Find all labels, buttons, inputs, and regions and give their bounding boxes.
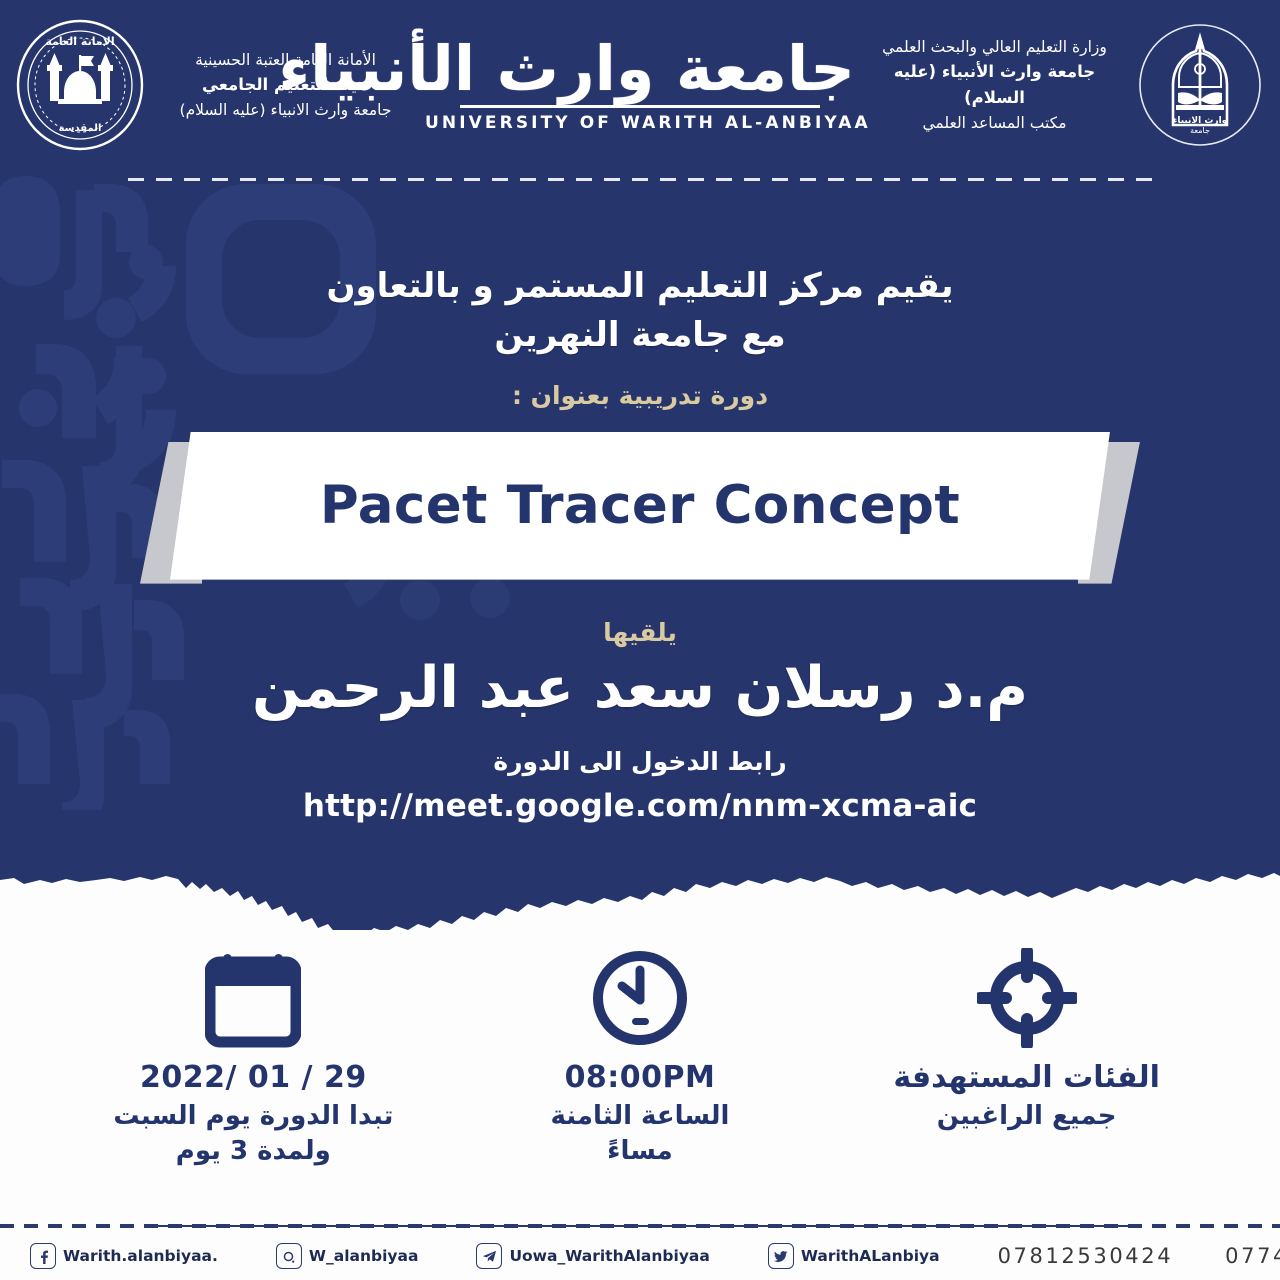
facebook-icon[interactable] (30, 1243, 56, 1269)
twitter-handle[interactable]: WarithALanbiya (801, 1247, 940, 1265)
clock-icon (465, 942, 815, 1054)
header-divider (128, 178, 1152, 181)
header-right-text: وزارة التعليم العالي والبحث العلمي جامعة… (870, 35, 1120, 134)
poster-header: الامانة العامة المقدسة الأمانة العامة ال… (0, 0, 1280, 170)
date-value: 2022/ 01 / 29 (78, 1060, 428, 1095)
organizer-line2: مع جامعة النهرين (0, 311, 1280, 360)
course-title-banner: Pacet Tracer Concept (140, 432, 1140, 584)
course-title: Pacet Tracer Concept (320, 475, 960, 536)
svg-text:الامانة العامة: الامانة العامة (45, 35, 114, 48)
date-sub-line2: ولمدة 3 يوم (78, 1134, 428, 1169)
poster-main-content: يقيم مركز التعليم المستمر و بالتعاون مع … (0, 200, 1280, 824)
wordmark-latin: UNIVERSITY OF WARITH AL-ANBIYAA (425, 113, 855, 133)
poster-root: الامانة العامة المقدسة الأمانة العامة ال… (0, 0, 1280, 1280)
organizer-line1: يقيم مركز التعليم المستمر و بالتعاون (326, 266, 953, 306)
instagram-icon[interactable] (276, 1243, 302, 1269)
course-kicker: دورة تدريبية بعنوان : (0, 381, 1280, 410)
poster-footer: Warith.alanbiyaa. W_alanbiyaa Uowa_Warit… (0, 1224, 1280, 1280)
footer-divider (0, 1224, 1280, 1228)
phone-2[interactable]: 07740811806 (1225, 1244, 1280, 1268)
social-twitter[interactable]: WarithALanbiya (768, 1243, 940, 1269)
blue-background-panel: الامانة العامة المقدسة الأمانة العامة ال… (0, 0, 1280, 930)
banner-surface: Pacet Tracer Concept (170, 432, 1110, 580)
social-telegram[interactable]: Uowa_WarithAlanbiyaa (476, 1243, 709, 1269)
wordmark-arabic: جامعة وارث الأنبياء (425, 38, 855, 100)
header-right-line1: وزارة التعليم العالي والبحث العلمي (870, 35, 1120, 59)
time-sub-line1: الساعة الثامنة (465, 1099, 815, 1134)
info-block-date: 2022/ 01 / 29 تبدا الدورة يوم السبت ولمد… (78, 942, 428, 1169)
contact-phones: 07812530424 07740811806 (998, 1244, 1280, 1268)
university-crest-icon: وارث الانبياء جامعة (1134, 19, 1266, 151)
time-sub-line2: مساءً (465, 1134, 815, 1169)
footer-divider-solid (150, 1225, 1130, 1227)
time-value: 08:00PM (465, 1060, 815, 1095)
footer-items: Warith.alanbiyaa. W_alanbiyaa Uowa_Warit… (0, 1232, 1280, 1280)
social-facebook[interactable]: Warith.alanbiyaa. (30, 1243, 218, 1269)
header-right-line3: مكتب المساعد العلمي (870, 111, 1120, 135)
info-block-audience: الفئات المستهدفة جميع الراغبين (852, 942, 1202, 1134)
meeting-link[interactable]: http://meet.google.com/nnm-xcma-aic (0, 788, 1280, 824)
svg-text:وارث الانبياء: وارث الانبياء (1173, 116, 1228, 126)
twitter-icon[interactable] (768, 1243, 794, 1269)
audience-sub: جميع الراغبين (852, 1099, 1202, 1134)
header-right-line2: جامعة وارث الأنبياء (عليه السلام) (870, 59, 1120, 110)
organizer-text: يقيم مركز التعليم المستمر و بالتعاون مع … (0, 262, 1280, 361)
audience-label: الفئات المستهدفة (852, 1060, 1202, 1095)
info-row: 2022/ 01 / 29 تبدا الدورة يوم السبت ولمد… (0, 942, 1280, 1169)
target-crosshair-icon (852, 942, 1202, 1054)
university-wordmark: جامعة وارث الأنبياء UNIVERSITY OF WARITH… (425, 38, 855, 133)
audience-sub-line1: جميع الراغبين (852, 1099, 1202, 1134)
link-label: رابط الدخول الى الدورة (0, 747, 1280, 776)
calendar-icon (78, 942, 428, 1054)
date-sub-line1: تبدا الدورة يوم السبت (78, 1099, 428, 1134)
time-sub: الساعة الثامنة مساءً (465, 1099, 815, 1169)
svg-text:جامعة: جامعة (1190, 126, 1210, 135)
date-sub: تبدا الدورة يوم السبت ولمدة 3 يوم (78, 1099, 428, 1169)
telegram-icon[interactable] (476, 1243, 502, 1269)
phone-1[interactable]: 07812530424 (998, 1244, 1174, 1268)
facebook-handle[interactable]: Warith.alanbiyaa. (63, 1247, 218, 1265)
speaker-name: م.د رسلان سعد عبد الرحمن (0, 655, 1280, 721)
instagram-handle[interactable]: W_alanbiyaa (309, 1247, 419, 1265)
info-block-time: 08:00PM الساعة الثامنة مساءً (465, 942, 815, 1169)
svg-text:المقدسة: المقدسة (59, 123, 102, 134)
speaker-kicker: يلقيها (0, 618, 1280, 647)
holy-shrine-seal-icon: الامانة العامة المقدسة (14, 19, 146, 151)
social-instagram[interactable]: W_alanbiyaa (276, 1243, 419, 1269)
telegram-handle[interactable]: Uowa_WarithAlanbiyaa (509, 1247, 709, 1265)
